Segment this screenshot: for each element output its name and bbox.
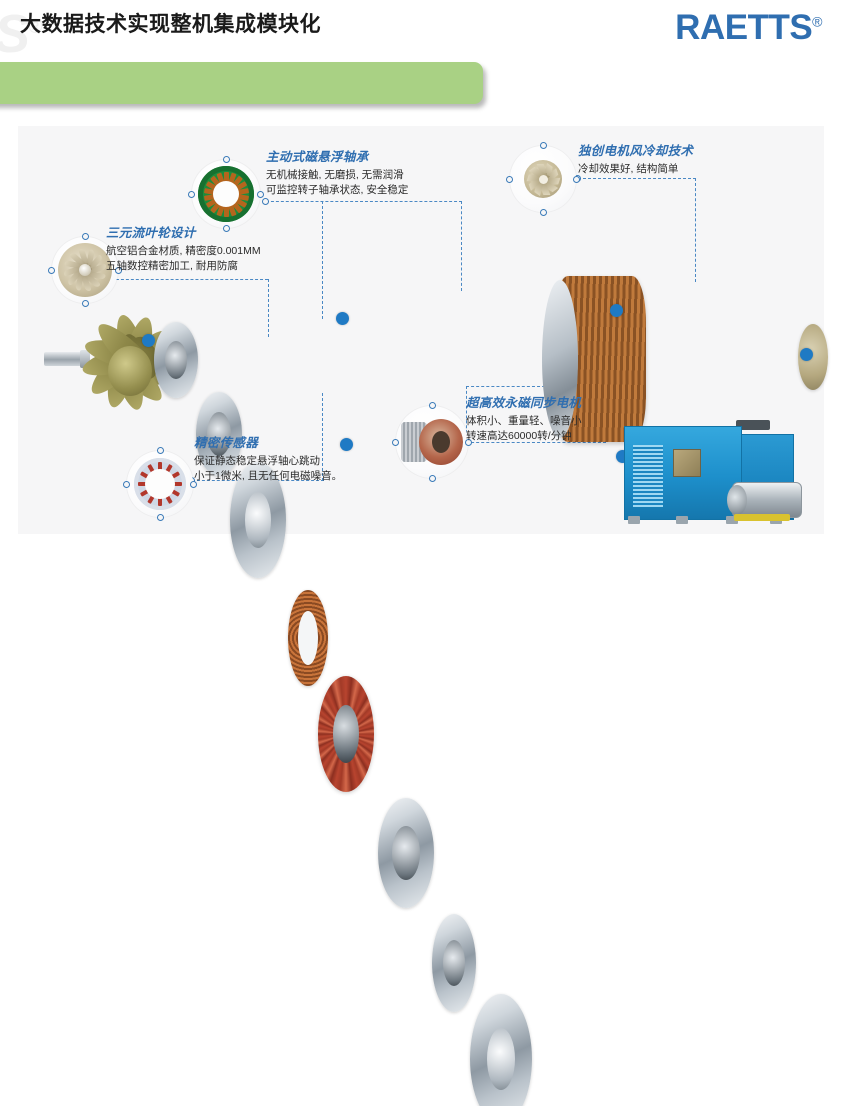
- annotation-line: 体积小、重量轻、噪音小: [466, 414, 582, 429]
- annotation-line: 冷却效果好, 结构简单: [578, 162, 693, 177]
- annotation-title: 独创电机风冷却技术: [578, 140, 693, 159]
- annotation-air-cooling: 独创电机风冷却技术 冷却效果好, 结构简单: [578, 140, 693, 177]
- annotation-line: 可监控转子轴承状态, 安全稳定: [266, 183, 408, 198]
- mid-housing-1: [378, 798, 434, 908]
- annotation-line: 保证静态稳定悬浮轴心跳动: [194, 454, 342, 469]
- title-banner: [0, 62, 483, 104]
- page-title: 大数据技术实现整机集成模块化: [20, 8, 321, 38]
- marker-dot-fan[interactable]: [800, 348, 813, 361]
- annotation-title: 超高效永磁同步电机: [466, 392, 582, 411]
- annotation-line: 五轴数控精密加工, 耐用防腐: [106, 259, 261, 274]
- copper-winding-ring: [288, 590, 328, 686]
- annotation-line: 航空铝合金材质, 精密度0.001MM: [106, 244, 261, 259]
- annotation-precision-sensor: 精密传感器 保证静态稳定悬浮轴心跳动 小于1微米, 且无任何电磁噪音。: [194, 432, 342, 484]
- blower-base-plate: [734, 514, 790, 521]
- mid-housing-3: [470, 994, 532, 1106]
- bearing-housing-1: [154, 322, 198, 398]
- cabinet-front-panel: [624, 426, 742, 520]
- annotation-pm-motor: 超高效永磁同步电机 体积小、重量轻、噪音小 转速高达60000转/分钟: [466, 392, 582, 444]
- marker-dot-bearing-top[interactable]: [336, 312, 349, 325]
- annotation-line: 小于1微米, 且无任何电磁噪音。: [194, 469, 342, 484]
- annotation-impeller: 三元流叶轮设计 航空铝合金材质, 精密度0.001MM 五轴数控精密加工, 耐用…: [106, 222, 261, 274]
- annotation-line: 转速高达60000转/分钟: [466, 429, 582, 444]
- annotation-line: 无机械接触, 无磨损, 无需润滑: [266, 168, 408, 183]
- marker-dot-motor-top[interactable]: [610, 304, 623, 317]
- blower-unit: [732, 482, 802, 518]
- annotation-title: 主动式磁悬浮轴承: [266, 146, 408, 165]
- annotation-magnetic-bearing: 主动式磁悬浮轴承 无机械接触, 无磨损, 无需润滑 可监控转子轴承状态, 安全稳…: [266, 146, 408, 198]
- brand-logo: RAETTS®: [675, 10, 822, 45]
- cabinet-louvers: [633, 445, 663, 507]
- annotation-title: 精密传感器: [194, 432, 342, 451]
- marker-dot-impeller[interactable]: [142, 334, 155, 347]
- registered-trademark-icon: ®: [812, 13, 822, 29]
- slide-root: S® RAETTS® 大数据技术实现整机集成模块化: [0, 0, 842, 553]
- blue-blower-cabinet: [624, 420, 810, 532]
- brand-logo-text: RAETTS: [675, 8, 812, 47]
- magnetic-bearing-stator: [318, 676, 374, 792]
- cabinet-control-panel: [673, 449, 701, 477]
- mid-housing-2: [432, 914, 476, 1012]
- annotation-title: 三元流叶轮设计: [106, 222, 261, 241]
